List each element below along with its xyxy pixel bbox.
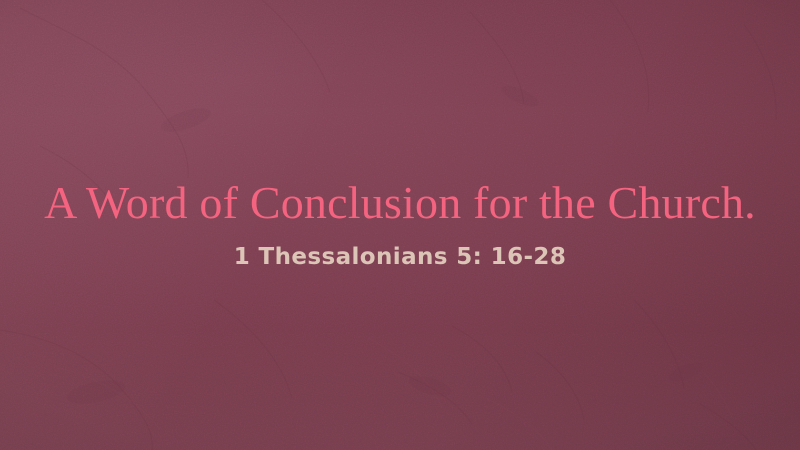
- presentation-slide: A Word of Conclusion for the Church. 1 T…: [0, 0, 800, 450]
- slide-subtitle-scripture-reference: 1 Thessalonians 5: 16-28: [234, 244, 566, 270]
- slide-title: A Word of Conclusion for the Church.: [44, 180, 756, 226]
- slide-content: A Word of Conclusion for the Church. 1 T…: [0, 0, 800, 450]
